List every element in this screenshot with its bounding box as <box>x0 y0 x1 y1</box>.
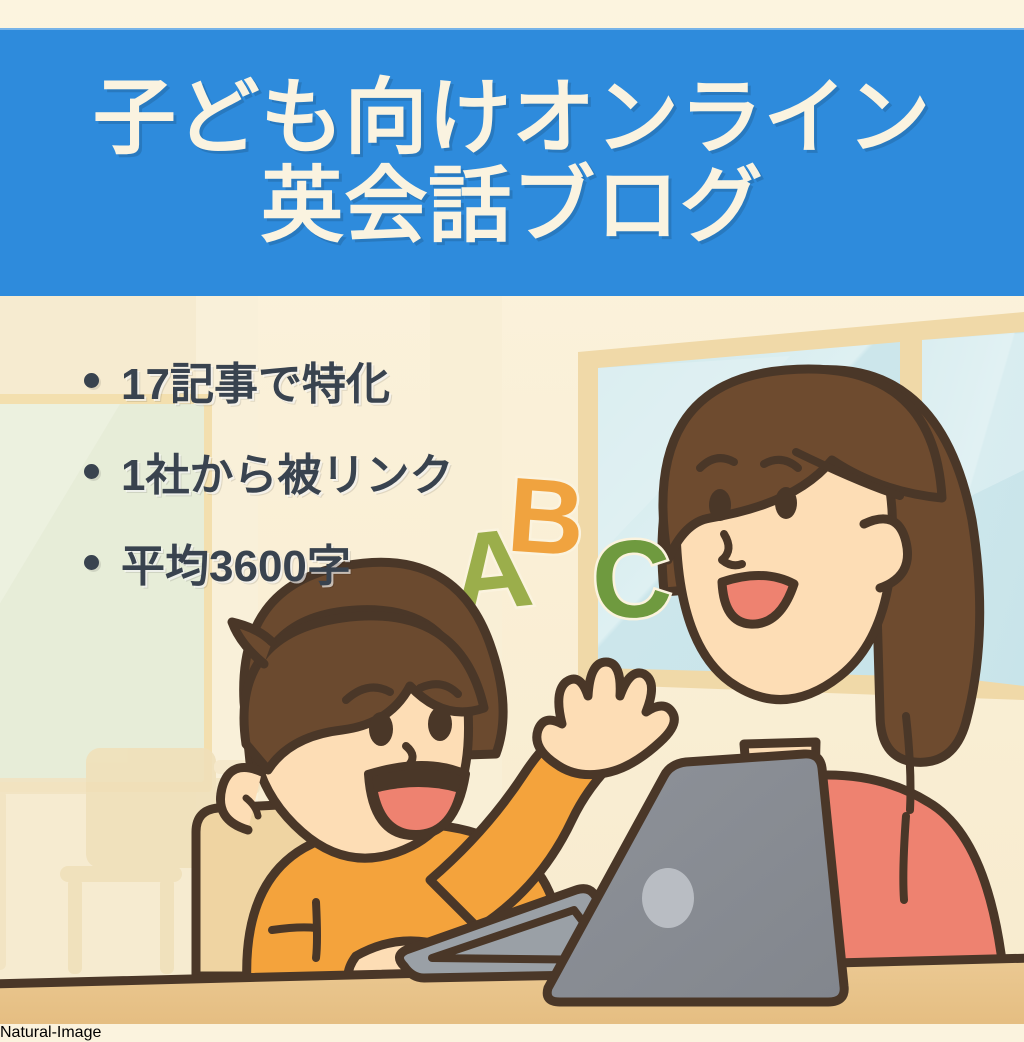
bullet-label-3: 平均3600字 <box>121 530 351 594</box>
bullet-item-1: 17記事で特化 <box>84 348 453 412</box>
bullet-dot-icon <box>84 464 99 479</box>
bullet-label-2: 1社から被リンク <box>121 439 453 503</box>
letter-B: B <box>504 456 589 579</box>
bullet-item-2: 1社から被リンク <box>84 439 453 503</box>
woman-eye-left <box>709 489 731 521</box>
bullet-dot-icon <box>84 555 99 570</box>
letter-C: C <box>589 516 675 643</box>
laptop-logo-icon <box>642 868 694 928</box>
woman-shirt-fold-left <box>906 716 911 810</box>
boy-eye-left <box>369 712 393 746</box>
poster-canvas: A B C <box>0 0 1024 1024</box>
bullet-item-3: 平均3600字 <box>84 530 453 594</box>
woman-shirt-fold-right <box>903 816 906 900</box>
woman-eye-right <box>775 487 797 519</box>
bullet-label-1: 17記事で特化 <box>121 348 390 412</box>
boy-shirt-fold-h <box>272 927 316 930</box>
banner-title-line-2: 英会話ブログ <box>261 162 764 250</box>
bullet-dot-icon <box>84 373 99 388</box>
highlight-bullet-list: 17記事で特化 1社から被リンク 平均3600字 <box>84 348 453 621</box>
boy-eye-right <box>428 707 452 741</box>
banner-title-line-1: 子ども向けオンライン <box>93 74 931 162</box>
title-banner: 子ども向けオンライン 英会話ブログ <box>0 28 1024 296</box>
